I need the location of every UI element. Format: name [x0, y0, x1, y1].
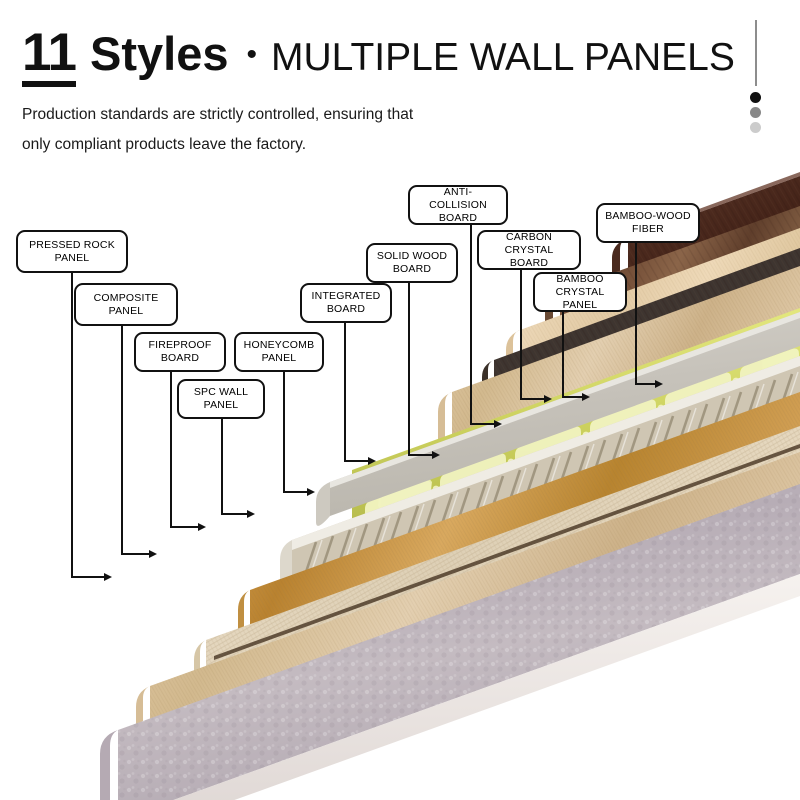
callout-solid-wood-board[interactable]: SOLID WOOD BOARD [366, 243, 458, 283]
callout-label-line2: PANEL [244, 352, 315, 365]
callout-label-line1: COMPOSITE [94, 292, 159, 305]
callout-label-line1: ANTI-COLLISION [415, 186, 501, 212]
callout-carbon-crystal-board[interactable]: CARBON CRYSTAL BOARD [477, 230, 581, 270]
leader-line-bamboo-crystal-v [562, 312, 564, 397]
leader-line-anti-collision-v [470, 225, 472, 424]
leader-arrow-fireproof-icon [198, 523, 206, 531]
page-title: 11 Styles • MULTIPLE WALL PANELS [22, 26, 735, 87]
leader-line-spc-h [221, 513, 249, 515]
callout-label-line2: BOARD [312, 303, 381, 316]
callout-label-line2: CRYSTAL PANEL [540, 286, 620, 312]
callout-label-line1: SOLID WOOD [377, 250, 447, 263]
callout-label-line2: BOARD [377, 263, 447, 276]
callout-label-line2: BOARD [415, 212, 501, 225]
leader-line-honeycomb-v [283, 372, 285, 492]
description-line-2: only compliant products leave the factor… [22, 130, 413, 160]
callout-label-line1: HONEYCOMB [244, 339, 315, 352]
styles-word: Styles [90, 30, 228, 77]
leader-line-fireproof-h [170, 526, 200, 528]
leader-line-solid-wood-v [408, 283, 410, 455]
callout-label-line2: PANEL [29, 252, 115, 265]
leader-arrow-pressed-rock-icon [104, 573, 112, 581]
description-paragraph: Production standards are strictly contro… [22, 100, 413, 160]
slider-dot-1-icon[interactable] [750, 92, 761, 103]
infographic-root: 11 Styles • MULTIPLE WALL PANELS Product… [0, 0, 800, 800]
leader-arrow-solid-wood-icon [432, 451, 440, 459]
callout-label-line1: PRESSED ROCK [29, 239, 115, 252]
leader-arrow-bamboo-wood-fiber-icon [655, 380, 663, 388]
leader-line-composite-h [121, 553, 151, 555]
callout-fireproof-board[interactable]: FIREPROOF BOARD [134, 332, 226, 372]
leader-arrow-carbon-crystal-icon [544, 395, 552, 403]
callout-label-line1: BAMBOO-WOOD [605, 210, 691, 223]
callout-label-line2: BOARD [484, 257, 574, 270]
callout-bamboo-wood-fiber[interactable]: BAMBOO-WOOD FIBER [596, 203, 700, 243]
callout-label-line2: FIBER [605, 223, 691, 236]
bullet-separator-icon: • [247, 40, 258, 70]
leader-line-composite-v [121, 326, 123, 554]
callout-label-line1: CARBON CRYSTAL [484, 231, 574, 257]
leader-arrow-honeycomb-icon [307, 488, 315, 496]
styles-count: 11 [22, 26, 76, 87]
leader-arrow-spc-icon [247, 510, 255, 518]
leader-line-pressed-rock-h [71, 576, 106, 578]
callout-bamboo-crystal-panel[interactable]: BAMBOO CRYSTAL PANEL [533, 272, 627, 312]
leader-line-integrated-h [344, 460, 370, 462]
callout-label-line2: PANEL [94, 305, 159, 318]
leader-line-bamboo-crystal-h [562, 396, 584, 398]
leader-line-spc-v [221, 419, 223, 514]
callout-pressed-rock-panel[interactable]: PRESSED ROCK PANEL [16, 230, 128, 273]
callout-label-line1: INTEGRATED [312, 290, 381, 303]
leader-line-carbon-crystal-v [520, 270, 522, 399]
callout-composite-panel[interactable]: COMPOSITE PANEL [74, 283, 178, 326]
leader-line-pressed-rock-v [71, 273, 73, 577]
leader-arrow-composite-icon [149, 550, 157, 558]
callout-label-line1: FIREPROOF [148, 339, 211, 352]
leader-line-solid-wood-h [408, 454, 434, 456]
leader-line-anti-collision-h [470, 423, 496, 425]
leader-line-bamboo-wood-fiber-h [635, 383, 657, 385]
leader-arrow-integrated-icon [368, 457, 376, 465]
slider-dot-2-icon[interactable] [750, 107, 761, 118]
slider-dot-3-icon[interactable] [750, 122, 761, 133]
leader-arrow-bamboo-crystal-icon [582, 393, 590, 401]
page-subtitle: MULTIPLE WALL PANELS [271, 38, 735, 77]
callout-label-line1: BAMBOO [540, 273, 620, 286]
callout-spc-wall-panel[interactable]: SPC WALL PANEL [177, 379, 265, 419]
callout-anti-collision-board[interactable]: ANTI-COLLISION BOARD [408, 185, 508, 225]
callout-label-line2: BOARD [148, 352, 211, 365]
description-line-1: Production standards are strictly contro… [22, 100, 413, 130]
leader-line-honeycomb-h [283, 491, 309, 493]
callout-label-line1: SPC WALL [194, 386, 248, 399]
slider-track [755, 20, 757, 86]
leader-line-carbon-crystal-h [520, 398, 546, 400]
leader-line-bamboo-wood-fiber-v [635, 243, 637, 384]
callout-honeycomb-panel[interactable]: HONEYCOMB PANEL [234, 332, 324, 372]
leader-line-fireproof-v [170, 372, 172, 527]
callout-label-line2: PANEL [194, 399, 248, 412]
leader-line-integrated-v [344, 323, 346, 461]
callout-integrated-board[interactable]: INTEGRATED BOARD [300, 283, 392, 323]
leader-arrow-anti-collision-icon [494, 420, 502, 428]
